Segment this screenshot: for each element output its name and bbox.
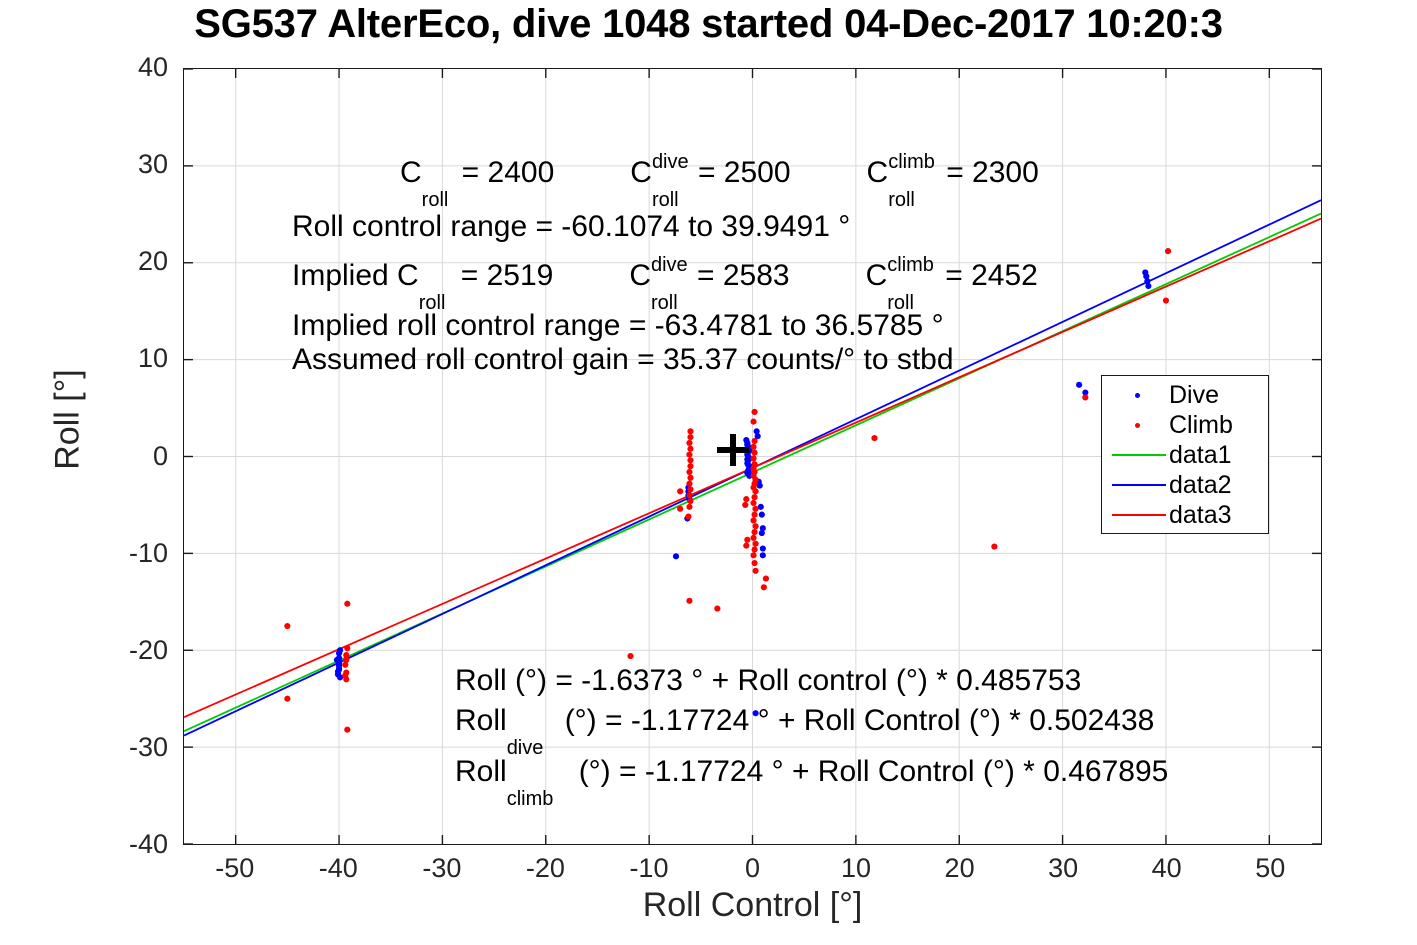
c-dive-symbol: C — [630, 156, 652, 189]
equation-roll-climb: Rollclimb(°) = -1.17724 ° + Roll Control… — [455, 757, 1168, 787]
c-dive-value: = 2500 — [698, 156, 791, 189]
y-tick-label: 20 — [73, 246, 168, 277]
legend-item-dive[interactable]: Dive — [1102, 380, 1268, 410]
implied-prefix: Implied C — [292, 259, 419, 292]
legend-item-data2[interactable]: data2 — [1102, 470, 1268, 500]
x-tick-label: 30 — [1013, 853, 1113, 884]
x-tick-label: -10 — [599, 853, 699, 884]
implied-c-roll-value: = 2519 — [461, 259, 554, 292]
c-climb-symbol: C — [867, 156, 889, 189]
x-tick-label: 10 — [806, 853, 906, 884]
annotation-c-constants: Croll= 2400Cdiveroll= 2500Cclimbroll= 23… — [400, 158, 1039, 188]
legend-item-data1[interactable]: data1 — [1102, 440, 1268, 470]
legend-item-climb[interactable]: Climb — [1102, 410, 1268, 440]
c-roll-value: = 2400 — [462, 156, 555, 189]
eq-climb-body: (°) = -1.17724 ° + Roll Control (°) * 0.… — [579, 755, 1169, 788]
legend-label: data3 — [1169, 503, 1232, 528]
y-axis-label: Roll [°] — [49, 290, 88, 550]
legend-marker-swatch-icon — [1107, 410, 1169, 440]
y-tick-label: 40 — [73, 52, 168, 83]
legend-label: data1 — [1169, 443, 1232, 468]
c-dive-sup: dive — [652, 152, 689, 172]
c-roll-sub: roll — [422, 190, 449, 210]
eq-dive-sub: dive — [507, 738, 544, 758]
c-climb-sub: roll — [888, 190, 915, 210]
y-tick-label: -20 — [73, 635, 168, 666]
annotation-roll-control-range: Roll control range = -60.1074 to 39.9491… — [292, 212, 850, 242]
y-tick-label: 30 — [73, 149, 168, 180]
figure-canvas: SG537 AlterEco, dive 1048 started 04-Dec… — [0, 0, 1417, 945]
c-climb-sup: climb — [888, 152, 935, 172]
eq-climb-sub: climb — [507, 789, 554, 809]
legend-item-data3[interactable]: data3 — [1102, 500, 1268, 530]
x-tick-label: 40 — [1117, 853, 1217, 884]
x-axis-label: Roll Control [°] — [183, 886, 1322, 925]
implied-c-dive-value: = 2583 — [697, 259, 790, 292]
equation-roll-all: Roll (°) = -1.6373 ° + Roll control (°) … — [455, 666, 1081, 696]
eq-dive-body: (°) = -1.17724 ° + Roll Control (°) * 0.… — [565, 704, 1155, 737]
implied-c-climb-sup: climb — [887, 255, 934, 275]
x-tick-label: 20 — [910, 853, 1010, 884]
x-tick-label: 0 — [703, 853, 803, 884]
implied-c-climb-symbol: C — [866, 259, 888, 292]
legend-line-swatch-icon — [1107, 440, 1169, 470]
implied-c-dive-symbol: C — [629, 259, 651, 292]
implied-c-climb-value: = 2452 — [945, 259, 1038, 292]
x-tick-label: -20 — [495, 853, 595, 884]
legend-label: Dive — [1169, 383, 1219, 408]
legend-line-swatch-icon — [1107, 500, 1169, 530]
c-dive-sub: roll — [652, 190, 679, 210]
x-tick-label: -50 — [185, 853, 285, 884]
annotation-implied-c-constants: Implied Croll= 2519Cdiveroll= 2583Cclimb… — [292, 261, 1038, 291]
y-tick-label: -30 — [73, 732, 168, 763]
c-climb-value: = 2300 — [946, 156, 1039, 189]
equation-roll-dive: Rolldive(°) = -1.17724 ° + Roll Control … — [455, 706, 1154, 736]
legend-label: data2 — [1169, 473, 1232, 498]
annotation-implied-roll-range: Implied roll control range = -63.4781 to… — [292, 311, 944, 341]
implied-c-dive-sup: dive — [651, 255, 688, 275]
figure-title: SG537 AlterEco, dive 1048 started 04-Dec… — [194, 2, 1223, 47]
eq-dive-prefix: Roll — [455, 704, 507, 737]
c-roll-symbol: C — [400, 156, 422, 189]
legend-line-swatch-icon — [1107, 470, 1169, 500]
x-tick-label: -40 — [288, 853, 388, 884]
annotation-roll-gain: Assumed roll control gain = 35.37 counts… — [292, 345, 954, 375]
x-tick-label: -30 — [392, 853, 492, 884]
y-tick-label: -40 — [73, 829, 168, 860]
eq-climb-prefix: Roll — [455, 755, 507, 788]
x-tick-label: 50 — [1220, 853, 1320, 884]
legend-marker-swatch-icon — [1107, 380, 1169, 410]
legend-label: Climb — [1169, 413, 1233, 438]
plot-legend[interactable]: DiveClimbdata1data2data3 — [1101, 375, 1269, 534]
